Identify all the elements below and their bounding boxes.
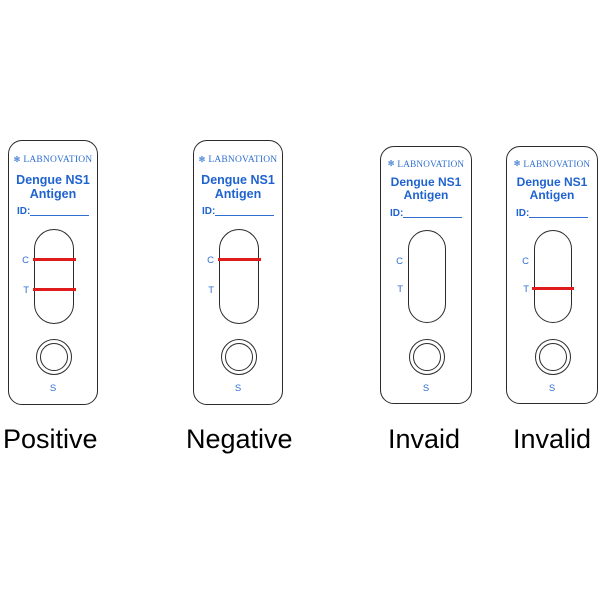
sample-well-inner[interactable] (539, 343, 567, 371)
caption-positive: Positive (3, 426, 98, 453)
id-label: ID: (202, 207, 215, 217)
product-title-line1: Dengue NS1 (9, 173, 97, 187)
labnovation-star-icon: ✻ (514, 160, 521, 168)
id-field[interactable]: ID: (390, 209, 462, 219)
product-title-line1: Dengue NS1 (381, 176, 471, 189)
id-label: ID: (516, 209, 529, 219)
test-marker-label: T (515, 285, 529, 295)
control-marker-label: C (200, 256, 214, 266)
control-marker-label: C (515, 257, 529, 267)
result-window (408, 230, 446, 323)
id-field[interactable]: ID: (516, 209, 588, 219)
brand-name: LABNOVATION (523, 159, 590, 169)
test-band (532, 287, 574, 290)
control-marker-label: C (389, 257, 403, 267)
brand-name: LABNOVATION (23, 155, 92, 165)
product-title-line1: Dengue NS1 (194, 173, 282, 187)
labnovation-star-icon: ✻ (199, 156, 206, 164)
control-band (218, 258, 261, 261)
sample-well-label: S (194, 384, 282, 394)
brand-row: ✻ LABNOVATION (381, 159, 471, 169)
id-input-line[interactable] (30, 214, 89, 216)
id-label: ID: (390, 209, 403, 219)
test-marker-label: T (389, 285, 403, 295)
id-input-line[interactable] (403, 216, 462, 218)
id-label: ID: (17, 207, 30, 217)
cassette-positive: ✻ LABNOVATION Dengue NS1 Antigen ID: C T… (8, 140, 98, 405)
sample-well-inner[interactable] (413, 343, 441, 371)
sample-well-inner[interactable] (225, 343, 253, 371)
result-window (534, 230, 572, 323)
test-band (33, 288, 76, 291)
labnovation-star-icon: ✻ (14, 156, 21, 164)
caption-negative: Negative (186, 426, 293, 453)
id-field[interactable]: ID: (17, 207, 89, 217)
brand-row: ✻ LABNOVATION (507, 159, 597, 169)
id-input-line[interactable] (215, 214, 274, 216)
cassette-invalid: ✻ LABNOVATION Dengue NS1 Antigen ID: C T… (506, 146, 598, 404)
sample-well-label: S (507, 384, 597, 394)
product-title: Dengue NS1 Antigen (507, 176, 597, 203)
test-cassette-diagram: ✻ LABNOVATION Dengue NS1 Antigen ID: C T… (0, 0, 600, 600)
sample-well-inner[interactable] (40, 343, 68, 371)
cassette-invaid: ✻ LABNOVATION Dengue NS1 Antigen ID: C T… (380, 146, 472, 404)
product-title-line2: Antigen (9, 187, 97, 201)
caption-invalid: Invalid (513, 426, 591, 453)
id-input-line[interactable] (529, 216, 588, 218)
brand-name: LABNOVATION (208, 155, 277, 165)
product-title-line2: Antigen (507, 189, 597, 202)
test-marker-label: T (200, 286, 214, 296)
product-title-line2: Antigen (194, 187, 282, 201)
brand-name: LABNOVATION (397, 159, 464, 169)
control-marker-label: C (15, 256, 29, 266)
sample-well-label: S (9, 384, 97, 394)
labnovation-star-icon: ✻ (388, 160, 395, 168)
id-field[interactable]: ID: (202, 207, 274, 217)
brand-row: ✻ LABNOVATION (9, 155, 97, 165)
product-title: Dengue NS1 Antigen (381, 176, 471, 203)
sample-well-label: S (381, 384, 471, 394)
product-title-line1: Dengue NS1 (507, 176, 597, 189)
result-window (219, 229, 259, 324)
product-title-line2: Antigen (381, 189, 471, 202)
cassette-negative: ✻ LABNOVATION Dengue NS1 Antigen ID: C T… (193, 140, 283, 405)
product-title: Dengue NS1 Antigen (9, 173, 97, 201)
control-band (33, 258, 76, 261)
brand-row: ✻ LABNOVATION (194, 155, 282, 165)
result-window (34, 229, 74, 324)
test-marker-label: T (15, 286, 29, 296)
caption-invaid: Invaid (388, 426, 460, 453)
product-title: Dengue NS1 Antigen (194, 173, 282, 201)
